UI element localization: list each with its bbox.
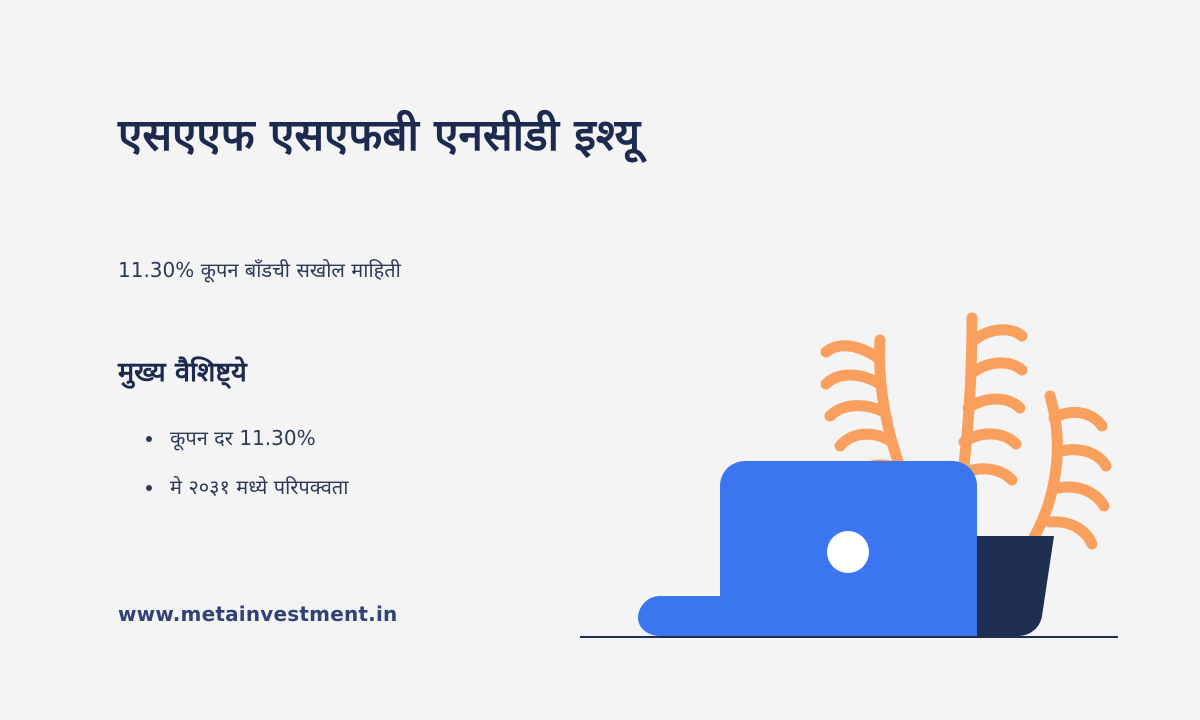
illustration-svg <box>580 300 1140 660</box>
slide-canvas: एसएएफ एसएफबी एनसीडी इश्यू 11.30% कूपन बा… <box>0 0 1200 720</box>
laptop-icon <box>638 461 977 636</box>
laptop-with-plant-illustration <box>580 300 1140 660</box>
page-title: एसएएफ एसएफबी एनसीडी इश्यू <box>118 108 978 163</box>
website-url: www.metainvestment.in <box>118 602 397 626</box>
subtitle: 11.30% कूपन बाँडची सखोल माहिती <box>118 256 638 284</box>
section-heading: मुख्य वैशिष्ट्ये <box>118 352 247 389</box>
laptop-camera-dot <box>827 531 869 573</box>
